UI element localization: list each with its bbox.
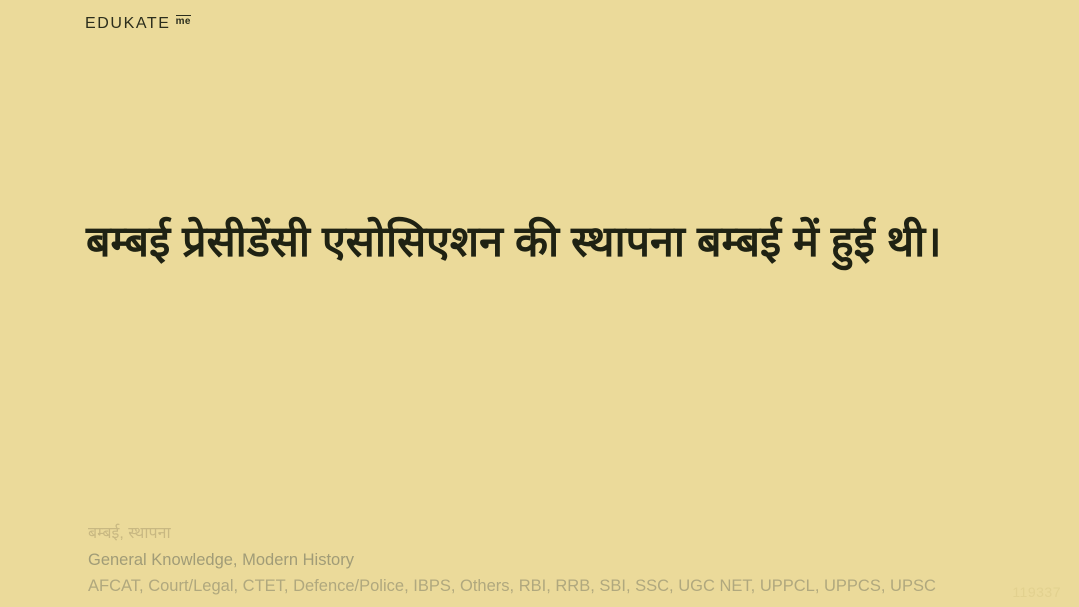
brand-logo[interactable]: EDUKATEme — [85, 16, 191, 32]
brand-name: EDUKATE — [85, 16, 171, 32]
meta-subject: General Knowledge, Modern History — [88, 547, 1008, 573]
watermark-id: 119337 — [1012, 584, 1061, 600]
question-heading: बम्बई प्रेसीडेंसी एसोसिएशन की स्थापना बम… — [86, 216, 986, 269]
slide-canvas: EDUKATEme बम्बई प्रेसीडेंसी एसोसिएशन की … — [0, 0, 1079, 607]
meta-tags: बम्बई, स्थापना — [88, 521, 1008, 547]
meta-exams: AFCAT, Court/Legal, CTET, Defence/Police… — [88, 573, 1008, 599]
brand-suffix: me — [176, 15, 191, 27]
footer-meta: बम्बई, स्थापना General Knowledge, Modern… — [88, 521, 1008, 599]
